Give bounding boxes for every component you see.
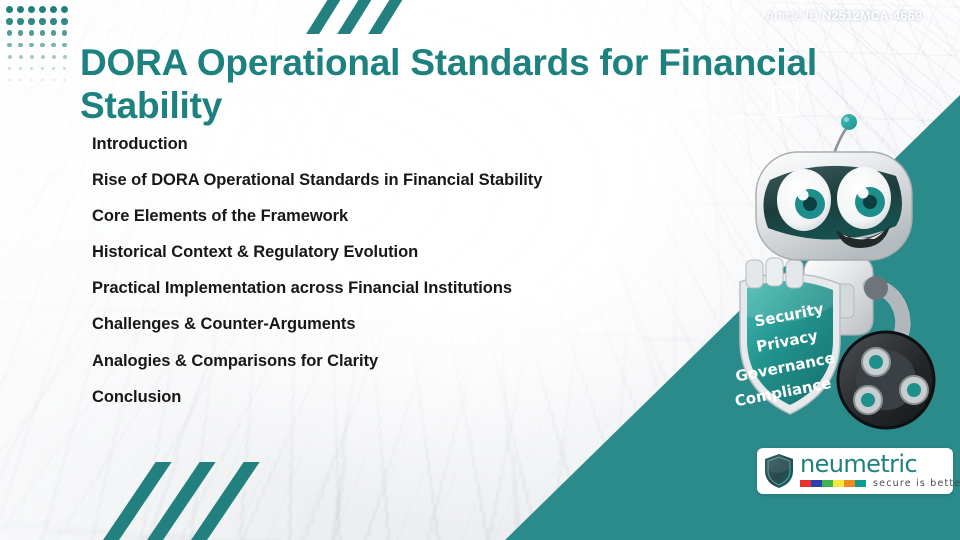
- dot-icon: [41, 55, 45, 59]
- dot-icon: [40, 43, 45, 48]
- agenda-item: Analogies & Comparisons for Clarity: [92, 353, 712, 370]
- dot-icon: [8, 67, 11, 70]
- agenda-item: Historical Context & Regulatory Evolutio…: [92, 244, 712, 261]
- dot-icon: [6, 6, 13, 13]
- dot-icon: [30, 55, 34, 59]
- agenda-item: Introduction: [92, 136, 712, 153]
- dot-icon: [30, 67, 33, 70]
- agenda-item: Practical Implementation across Financia…: [92, 280, 712, 297]
- dot-icon: [17, 6, 24, 13]
- robot-eye-left: [777, 169, 831, 231]
- dot-icon: [17, 18, 23, 24]
- dot-icon: [6, 18, 12, 24]
- article-id: Article ID N2512MCA-4669: [766, 9, 922, 23]
- stripe-icon: [306, 0, 343, 34]
- dot-icon: [18, 30, 24, 36]
- dot-icon: [7, 30, 13, 36]
- logo-wordmark: neumetric: [800, 453, 960, 476]
- logo-subline: secure is better: [800, 478, 960, 489]
- dot-icon: [19, 55, 23, 59]
- security-shield: Security Privacy Governance Compliance: [733, 273, 840, 414]
- dot-icon: [39, 6, 46, 13]
- dot-icon: [52, 67, 55, 70]
- dot-icon: [8, 55, 12, 59]
- diagonal-stripes-bottom: [128, 462, 263, 540]
- dot-icon: [51, 43, 56, 48]
- dot-icon: [62, 43, 67, 48]
- dot-icon: [52, 79, 55, 82]
- diagonal-stripes-top: [318, 0, 428, 34]
- agenda-item: Core Elements of the Framework: [92, 208, 712, 225]
- robot-svg: Security Privacy Governance Compliance: [718, 108, 960, 438]
- dot-icon: [30, 79, 33, 82]
- dot-icon: [19, 79, 22, 82]
- dot-icon: [29, 43, 34, 48]
- logo-text-block: neumetric secure is better: [800, 453, 960, 490]
- stripe-icon: [337, 0, 374, 34]
- dot-icon: [51, 30, 57, 36]
- robot-wheel: [838, 332, 934, 428]
- agenda-list: IntroductionRise of DORA Operational Sta…: [92, 136, 712, 425]
- dot-grid-decoration: [4, 4, 70, 86]
- dot-icon: [18, 43, 23, 48]
- dot-icon: [41, 67, 44, 70]
- neumetric-logo: neumetric secure is better: [757, 448, 953, 494]
- dot-icon: [63, 67, 66, 70]
- agenda-item: Rise of DORA Operational Standards in Fi…: [92, 172, 712, 189]
- dot-icon: [61, 18, 67, 24]
- robot-head: [756, 152, 912, 260]
- dot-icon: [28, 18, 34, 24]
- dot-icon: [41, 79, 44, 82]
- dot-icon: [61, 6, 68, 13]
- shield-icon: [764, 453, 794, 489]
- dot-icon: [19, 67, 22, 70]
- dot-icon: [7, 43, 12, 48]
- presentation-slide: Article ID N2512MCA-4669 DORA Operationa…: [0, 0, 960, 540]
- background-mesh-layer-2: [0, 0, 960, 1]
- color-bar-segment: [800, 480, 811, 487]
- dot-icon: [50, 6, 57, 13]
- dot-icon: [63, 79, 66, 82]
- dot-icon: [28, 6, 35, 13]
- color-bar-segment: [844, 480, 855, 487]
- color-bar-segment: [855, 480, 866, 487]
- agenda-item: Conclusion: [92, 389, 712, 406]
- color-bar-segment: [822, 480, 833, 487]
- robot-eye-right: [837, 167, 891, 229]
- color-bar-segment: [833, 480, 844, 487]
- logo-tagline: secure is better: [873, 478, 960, 489]
- dot-icon: [40, 30, 46, 36]
- dot-icon: [62, 30, 68, 36]
- color-bar-segment: [811, 480, 822, 487]
- dot-icon: [8, 79, 11, 82]
- robot-hand-left: [746, 258, 803, 288]
- article-id-label: Article ID: [766, 9, 819, 23]
- dot-icon: [29, 30, 35, 36]
- dot-icon: [52, 55, 56, 59]
- robot-mascot-illustration: Security Privacy Governance Compliance: [718, 108, 960, 438]
- dot-icon: [39, 18, 45, 24]
- article-id-value: N2512MCA-4669: [822, 9, 922, 23]
- dot-icon: [63, 55, 67, 59]
- dot-icon: [50, 18, 56, 24]
- stripe-icon: [368, 0, 405, 34]
- color-bars-icon: [800, 480, 866, 487]
- agenda-item: Challenges & Counter-Arguments: [92, 316, 712, 333]
- page-title: DORA Operational Standards for Financial…: [80, 42, 825, 128]
